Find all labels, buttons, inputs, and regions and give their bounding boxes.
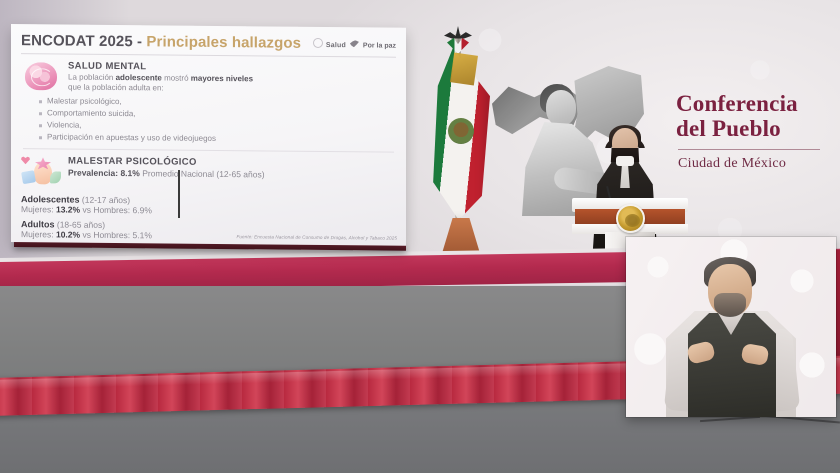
brain-icon [21,60,61,93]
interpreter-beard [714,293,746,317]
mic-stand [178,170,180,218]
prevalence-label: Prevalencia: [68,168,120,179]
group-name: Adolescentes [21,194,80,205]
slide-title-secondary: Principales hallazgos [146,33,301,51]
logo-salud-block: Salud [326,34,346,52]
presenter-collar [616,156,634,166]
men-label: Hombres: [93,205,132,215]
women-value: 10.2% [56,229,80,239]
group-name: Adultos [21,219,55,229]
leaf-icon [50,171,61,183]
bullet-dot-icon [39,136,42,139]
wellbeing-icon [21,155,61,188]
women-label: Mujeres: [21,229,56,239]
intro-mid: mostró [162,73,191,82]
logo-paz-block: Por la paz [363,34,396,52]
intro-line2: que la población adulta en: [68,83,164,93]
logo-circle-icon [313,38,323,48]
salud-mental-bullets: Malestar psicológico, Comportamiento sui… [39,96,396,145]
prevalence-note: Promedio Nacional (12-65 años) [140,168,265,179]
stat-group-adolescentes: Adolescentes (12-17 años) Mujeres: 13.2%… [21,194,396,218]
dove-icon [349,38,360,48]
bullet-label: Malestar psicológico, [47,96,122,107]
logo-salud-text: Salud [326,42,346,49]
slide-title: ENCODAT 2025 - Principales hallazgos [21,32,301,52]
section-salud-mental: SALUD MENTAL La población adolescente mo… [21,60,396,97]
women-label: Mujeres: [21,204,56,214]
conference-title-block: Conferencia del Pueblo Ciudad de México [676,92,836,172]
flag-gold-trim [450,52,478,85]
bullet-label: Participación en apuestas y uso de video… [47,132,216,144]
bullet-dot-icon [39,112,42,115]
women-value: 13.2% [56,204,80,214]
heart-icon [21,156,30,164]
stage-scene: Conferencia del Pueblo Ciudad de México … [0,0,840,473]
slide-header: ENCODAT 2025 - Principales hallazgos Sal… [21,31,396,58]
malestar-body: MALESTAR PSICOLÓGICO Prevalencia: 8.1% P… [68,156,396,192]
intro-bold-niveles: mayores niveles [191,74,253,84]
presentation-screen: ENCODAT 2025 - Principales hallazgos Sal… [11,24,406,246]
intro-prefix: La población [68,73,116,82]
section-malestar-psicologico: MALESTAR PSICOLÓGICO Prevalencia: 8.1% P… [21,155,396,192]
book-icon [21,170,36,184]
mural-head [546,90,576,126]
intro-bold-adolescente: adolescente [116,73,162,82]
list-item: Participación en apuestas y uso de video… [39,132,396,146]
slide-divider [23,148,394,153]
men-value: 6.9% [133,205,152,215]
men-label: Hombres: [93,230,132,240]
bullet-dot-icon [39,100,42,103]
salud-mental-body: SALUD MENTAL La población adolescente mo… [68,61,396,97]
men-value: 5.1% [133,230,152,240]
prevalence-value: 8.1% [120,168,139,178]
logo-paz-text: Por la paz [363,42,396,49]
salud-mental-intro: La población adolescente mostró mayores … [68,73,396,97]
national-emblem-seal-icon [616,204,645,233]
conference-city: Ciudad de México [676,156,836,172]
flag-coat-of-arms-icon [448,118,474,144]
prevalence-line: Prevalencia: 8.1% Promedio Nacional (12-… [68,168,396,181]
government-logo: Salud Por la paz [313,34,396,53]
vs-separator: vs [80,205,93,215]
bullet-label: Comportamiento suicida, [47,108,135,119]
conference-title-line2: del Pueblo [676,117,836,142]
group-age-range: (18-65 años) [57,220,105,230]
conference-title-line1: Conferencia [676,92,836,117]
slide-title-primary: ENCODAT 2025 - [21,32,146,50]
title-divider [678,149,820,150]
vs-separator: vs [80,230,93,240]
slide-content: ENCODAT 2025 - Principales hallazgos Sal… [11,24,406,246]
bullet-dot-icon [39,124,42,127]
sign-language-interpreter-panel [626,237,836,417]
group-age-range: (12-17 años) [82,195,130,205]
bullet-label: Violencia, [47,120,82,131]
